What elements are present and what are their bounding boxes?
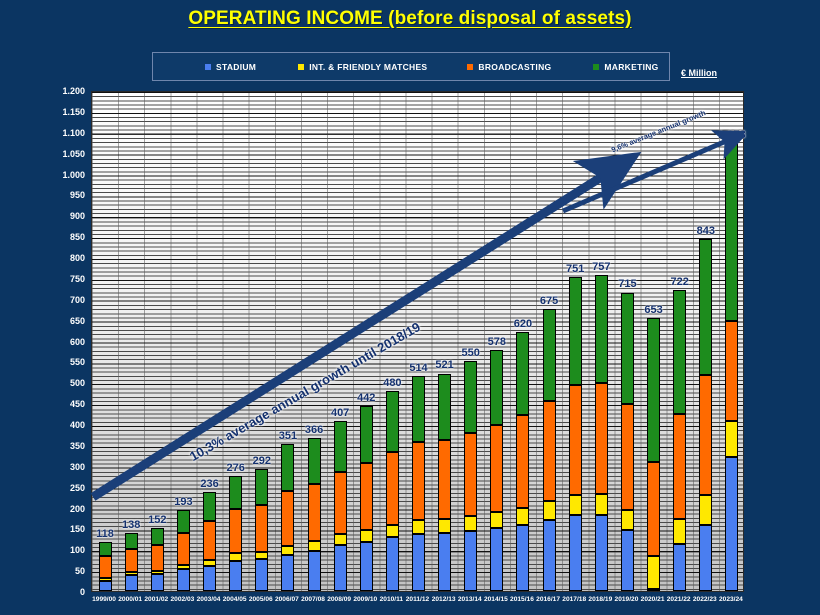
bar-segment-int-friendly-matches bbox=[438, 519, 451, 533]
bar-value-label: 152 bbox=[148, 514, 166, 526]
y-axis-tick-label: 700 bbox=[70, 295, 85, 305]
legend-item-3[interactable]: MARKETING bbox=[593, 62, 658, 72]
x-axis-tick-label: 2020/21 bbox=[641, 596, 665, 603]
bar-segment-broadcasting bbox=[386, 452, 399, 525]
y-axis-tick-label: 1.200 bbox=[62, 86, 85, 96]
bar-segment-broadcasting bbox=[151, 545, 164, 570]
x-axis-tick-label: 2015/16 bbox=[510, 596, 534, 603]
bar-value-label: 138 bbox=[122, 519, 140, 531]
bar-2019-20[interactable] bbox=[621, 293, 634, 592]
bar-segment-broadcasting bbox=[647, 462, 660, 556]
bar-segment-broadcasting bbox=[334, 472, 347, 535]
y-axis-tick-label: 1.050 bbox=[62, 149, 85, 159]
x-axis-tick-label: 1999/00 bbox=[92, 596, 116, 603]
square-marker-icon bbox=[467, 64, 473, 70]
bar-2014-15[interactable] bbox=[490, 350, 503, 591]
bar-2018-19[interactable] bbox=[595, 275, 608, 591]
bar-segment-marketing bbox=[308, 438, 321, 484]
y-axis-tick-label: 650 bbox=[70, 316, 85, 326]
bar-segment-broadcasting bbox=[725, 321, 738, 421]
legend-item-label: BROADCASTING bbox=[478, 62, 551, 72]
bar-2017-18[interactable] bbox=[569, 277, 582, 591]
y-axis-tick-label: 500 bbox=[70, 378, 85, 388]
bar-segment-int-friendly-matches bbox=[125, 572, 138, 575]
bar-segment-stadium bbox=[621, 530, 634, 591]
legend-item-label: STADIUM bbox=[216, 62, 256, 72]
bar-value-label: 442 bbox=[357, 392, 375, 404]
bar-segment-broadcasting bbox=[490, 425, 503, 512]
bar-value-label: 521 bbox=[435, 359, 453, 371]
bar-segment-marketing bbox=[490, 350, 503, 426]
bar-segment-marketing bbox=[438, 374, 451, 440]
bar-2001-02[interactable] bbox=[151, 528, 164, 591]
x-axis-tick-label: 2022/23 bbox=[693, 596, 717, 603]
bar-segment-int-friendly-matches bbox=[386, 525, 399, 538]
x-axis: 1999/002000/012001/022002/032003/042004/… bbox=[91, 594, 744, 614]
bar-segment-marketing bbox=[621, 293, 634, 404]
bar-segment-broadcasting bbox=[412, 442, 425, 520]
bar-2000-01[interactable] bbox=[125, 533, 138, 591]
bar-segment-int-friendly-matches bbox=[203, 560, 216, 566]
bar-segment-stadium bbox=[595, 515, 608, 591]
bar-segment-int-friendly-matches bbox=[516, 508, 529, 525]
bar-segment-stadium bbox=[490, 528, 503, 591]
bar-segment-int-friendly-matches bbox=[621, 510, 634, 530]
bar-2007-08[interactable] bbox=[308, 438, 321, 591]
bar-segment-int-friendly-matches bbox=[281, 546, 294, 555]
bar-value-label: 722 bbox=[671, 276, 689, 288]
bar-segment-int-friendly-matches bbox=[255, 552, 268, 560]
bar-value-label: 751 bbox=[566, 263, 584, 275]
bar-segment-stadium bbox=[516, 525, 529, 591]
square-marker-icon bbox=[298, 64, 304, 70]
bar-value-label: 843 bbox=[697, 225, 715, 237]
bar-segment-stadium bbox=[673, 544, 686, 591]
bar-segment-int-friendly-matches bbox=[464, 516, 477, 531]
square-marker-icon bbox=[205, 64, 211, 70]
bar-segment-stadium bbox=[281, 555, 294, 591]
bar-segment-stadium bbox=[725, 457, 738, 591]
bar-value-label: 292 bbox=[253, 455, 271, 467]
page-title: OPERATING INCOME (before disposal of ass… bbox=[0, 8, 820, 30]
bar-segment-stadium bbox=[151, 574, 164, 591]
unit-label: € Million bbox=[681, 68, 717, 78]
x-axis-tick-label: 2006/07 bbox=[275, 596, 299, 603]
bar-segment-int-friendly-matches bbox=[543, 501, 556, 520]
x-axis-tick-label: 2017/18 bbox=[562, 596, 586, 603]
bar-segment-broadcasting bbox=[360, 463, 373, 530]
bar-segment-marketing bbox=[229, 476, 242, 509]
bar-segment-int-friendly-matches bbox=[99, 578, 112, 581]
bar-segment-broadcasting bbox=[569, 385, 582, 495]
y-axis-tick-label: 250 bbox=[70, 483, 85, 493]
bar-segment-stadium bbox=[308, 551, 321, 591]
bar-value-label: 757 bbox=[592, 261, 610, 273]
x-axis-tick-label: 2018/19 bbox=[588, 596, 612, 603]
y-axis-tick-label: 600 bbox=[70, 337, 85, 347]
bar-segment-stadium bbox=[699, 525, 712, 591]
x-axis-tick-label: 2009/10 bbox=[353, 596, 377, 603]
bar-segment-int-friendly-matches bbox=[308, 541, 321, 551]
bar-segment-stadium bbox=[99, 581, 112, 591]
bar-segment-broadcasting bbox=[543, 401, 556, 501]
bar-2021-22[interactable] bbox=[673, 290, 686, 591]
bar-value-label: 653 bbox=[644, 304, 662, 316]
bar-segment-marketing bbox=[255, 469, 268, 505]
y-axis-tick-label: 950 bbox=[70, 190, 85, 200]
bar-segment-int-friendly-matches bbox=[490, 512, 503, 528]
bar-segment-marketing bbox=[673, 290, 686, 415]
bar-2006-07[interactable] bbox=[281, 444, 294, 591]
bar-segment-marketing bbox=[177, 510, 190, 533]
x-axis-tick-label: 2019/20 bbox=[615, 596, 639, 603]
bar-segment-marketing bbox=[569, 277, 582, 384]
bar-segment-marketing bbox=[464, 361, 477, 432]
square-marker-icon bbox=[593, 64, 599, 70]
bar-segment-stadium bbox=[412, 534, 425, 591]
x-axis-tick-label: 2005/06 bbox=[249, 596, 273, 603]
y-axis-tick-label: 1.100 bbox=[62, 128, 85, 138]
bar-segment-broadcasting bbox=[125, 549, 138, 572]
bar-segment-broadcasting bbox=[464, 433, 477, 516]
bar-segment-stadium bbox=[125, 575, 138, 591]
bar-segment-marketing bbox=[151, 528, 164, 546]
bar-segment-marketing bbox=[699, 239, 712, 375]
bar-segment-broadcasting bbox=[203, 521, 216, 559]
chart-legend: STADIUMINT. & FRIENDLY MATCHESBROADCASTI… bbox=[152, 52, 670, 81]
bar-segment-stadium bbox=[360, 542, 373, 591]
y-axis-tick-label: 1.000 bbox=[62, 170, 85, 180]
bar-segment-marketing bbox=[386, 391, 399, 452]
bar-segment-int-friendly-matches bbox=[699, 495, 712, 525]
bar-value-label: 480 bbox=[383, 377, 401, 389]
bar-2016-17[interactable] bbox=[543, 309, 556, 591]
x-axis-tick-label: 2012/13 bbox=[432, 596, 456, 603]
legend-item-1[interactable]: INT. & FRIENDLY MATCHES bbox=[298, 62, 427, 72]
bar-value-label: 620 bbox=[514, 318, 532, 330]
bar-segment-int-friendly-matches bbox=[151, 571, 164, 574]
plot-area: 1181381521932362762923513664074424805145… bbox=[91, 91, 744, 592]
bar-segment-int-friendly-matches bbox=[177, 565, 190, 569]
x-axis-tick-label: 2016/17 bbox=[536, 596, 560, 603]
bar-segment-int-friendly-matches bbox=[334, 534, 347, 545]
bar-value-label: 366 bbox=[305, 424, 323, 436]
bar-segment-stadium bbox=[569, 515, 582, 591]
y-axis-tick-label: 550 bbox=[70, 357, 85, 367]
x-axis-tick-label: 2011/12 bbox=[406, 596, 429, 603]
bar-segment-stadium bbox=[543, 520, 556, 591]
bar-segment-marketing bbox=[360, 406, 373, 462]
bar-2010-11[interactable] bbox=[386, 391, 399, 591]
bar-segment-stadium bbox=[464, 531, 477, 591]
bar-value-label: 118 bbox=[96, 528, 114, 540]
bar-segment-int-friendly-matches bbox=[725, 421, 738, 457]
y-axis-tick-label: 50 bbox=[75, 566, 85, 576]
y-axis-tick-label: 850 bbox=[70, 232, 85, 242]
y-axis-tick-label: 800 bbox=[70, 253, 85, 263]
bar-2020-21[interactable] bbox=[647, 318, 660, 591]
bar-1999-00[interactable] bbox=[99, 542, 112, 591]
bar-segment-stadium bbox=[386, 537, 399, 591]
bar-value-label: 351 bbox=[279, 430, 297, 442]
x-axis-tick-label: 2004/05 bbox=[223, 596, 247, 603]
x-axis-tick-label: 2003/04 bbox=[197, 596, 221, 603]
bar-segment-marketing bbox=[281, 444, 294, 491]
y-axis-tick-label: 150 bbox=[70, 524, 85, 534]
x-axis-tick-label: 2007/08 bbox=[301, 596, 325, 603]
bar-segment-broadcasting bbox=[621, 404, 634, 510]
bar-2011-12[interactable] bbox=[412, 376, 425, 591]
y-axis: 0501001502002503003504004505005506006507… bbox=[0, 91, 85, 592]
bar-2012-13[interactable] bbox=[438, 373, 451, 591]
bar-segment-stadium bbox=[203, 566, 216, 591]
bar-segment-broadcasting bbox=[516, 415, 529, 508]
y-axis-tick-label: 0 bbox=[80, 587, 85, 597]
bar-2003-04[interactable] bbox=[203, 492, 216, 591]
bar-value-label: 514 bbox=[409, 362, 427, 374]
bar-2002-03[interactable] bbox=[177, 510, 190, 591]
bar-segment-marketing bbox=[647, 318, 660, 462]
bar-segment-int-friendly-matches bbox=[229, 553, 242, 560]
bar-segment-stadium bbox=[438, 533, 451, 591]
y-axis-tick-label: 200 bbox=[70, 504, 85, 514]
y-axis-tick-label: 350 bbox=[70, 441, 85, 451]
x-axis-tick-label: 2010/11 bbox=[380, 596, 403, 603]
bar-value-label: 193 bbox=[174, 496, 192, 508]
y-axis-tick-label: 400 bbox=[70, 420, 85, 430]
bar-segment-stadium bbox=[177, 569, 190, 591]
bar-segment-int-friendly-matches bbox=[595, 494, 608, 515]
bar-value-label: 715 bbox=[618, 278, 636, 290]
legend-item-0[interactable]: STADIUM bbox=[205, 62, 256, 72]
legend-item-label: INT. & FRIENDLY MATCHES bbox=[309, 62, 427, 72]
bar-segment-marketing bbox=[203, 492, 216, 521]
bar-segment-marketing bbox=[725, 143, 738, 321]
bar-segment-marketing bbox=[543, 309, 556, 401]
x-axis-tick-label: 2021/22 bbox=[667, 596, 691, 603]
bar-value-label: 407 bbox=[331, 407, 349, 419]
y-axis-tick-label: 450 bbox=[70, 399, 85, 409]
bar-segment-broadcasting bbox=[229, 509, 242, 553]
bar-segment-int-friendly-matches bbox=[360, 530, 373, 542]
bar-segment-int-friendly-matches bbox=[412, 520, 425, 534]
bar-segment-broadcasting bbox=[281, 491, 294, 545]
bar-segment-marketing bbox=[595, 275, 608, 383]
bar-2009-10[interactable] bbox=[360, 406, 373, 591]
x-axis-tick-label: 2014/15 bbox=[484, 596, 508, 603]
x-axis-tick-label: 2023/24 bbox=[719, 596, 743, 603]
bar-segment-int-friendly-matches bbox=[647, 556, 660, 589]
y-axis-tick-label: 100 bbox=[70, 545, 85, 555]
bar-segment-stadium bbox=[255, 559, 268, 591]
legend-item-label: MARKETING bbox=[604, 62, 658, 72]
bar-2004-05[interactable] bbox=[229, 476, 242, 591]
bar-2005-06[interactable] bbox=[255, 469, 268, 591]
bar-segment-broadcasting bbox=[99, 556, 112, 578]
bar-value-label: 276 bbox=[226, 462, 244, 474]
bar-2008-09[interactable] bbox=[334, 421, 347, 591]
bar-segment-broadcasting bbox=[673, 414, 686, 518]
bar-value-label: 236 bbox=[200, 478, 218, 490]
bar-2015-16[interactable] bbox=[516, 332, 529, 591]
bar-segment-int-friendly-matches bbox=[569, 495, 582, 515]
y-axis-tick-label: 1.150 bbox=[62, 107, 85, 117]
legend-item-2[interactable]: BROADCASTING bbox=[467, 62, 551, 72]
slide-canvas: OPERATING INCOME (before disposal of ass… bbox=[0, 0, 820, 615]
x-axis-tick-label: 2000/01 bbox=[118, 596, 142, 603]
bar-segment-marketing bbox=[334, 421, 347, 472]
bar-segment-broadcasting bbox=[255, 505, 268, 552]
bar-segment-stadium bbox=[334, 545, 347, 591]
bar-segment-broadcasting bbox=[177, 533, 190, 565]
x-axis-tick-label: 2002/03 bbox=[170, 596, 194, 603]
bar-value-label: 578 bbox=[488, 336, 506, 348]
bar-segment-int-friendly-matches bbox=[673, 519, 686, 544]
bar-segment-broadcasting bbox=[699, 375, 712, 495]
x-axis-tick-label: 2001/02 bbox=[144, 596, 168, 603]
x-axis-tick-label: 2008/09 bbox=[327, 596, 351, 603]
bar-segment-broadcasting bbox=[438, 440, 451, 519]
bar-segment-marketing bbox=[412, 376, 425, 442]
y-axis-tick-label: 300 bbox=[70, 462, 85, 472]
bar-value-label: 675 bbox=[540, 295, 558, 307]
bar-2013-14[interactable] bbox=[464, 361, 477, 591]
bar-segment-broadcasting bbox=[308, 484, 321, 541]
bar-segment-broadcasting bbox=[595, 383, 608, 494]
bar-segment-marketing bbox=[99, 542, 112, 557]
bar-value-label: 550 bbox=[462, 347, 480, 359]
y-axis-tick-label: 750 bbox=[70, 274, 85, 284]
x-axis-tick-label: 2013/14 bbox=[458, 596, 482, 603]
bar-2023-24[interactable] bbox=[725, 143, 738, 591]
bar-value-label: 1.073 bbox=[718, 129, 746, 141]
bar-segment-marketing bbox=[516, 332, 529, 415]
bar-segment-stadium bbox=[647, 589, 660, 592]
bar-2022-23[interactable] bbox=[699, 239, 712, 591]
bar-segment-stadium bbox=[229, 561, 242, 591]
y-axis-tick-label: 900 bbox=[70, 211, 85, 221]
bar-segment-marketing bbox=[125, 533, 138, 548]
